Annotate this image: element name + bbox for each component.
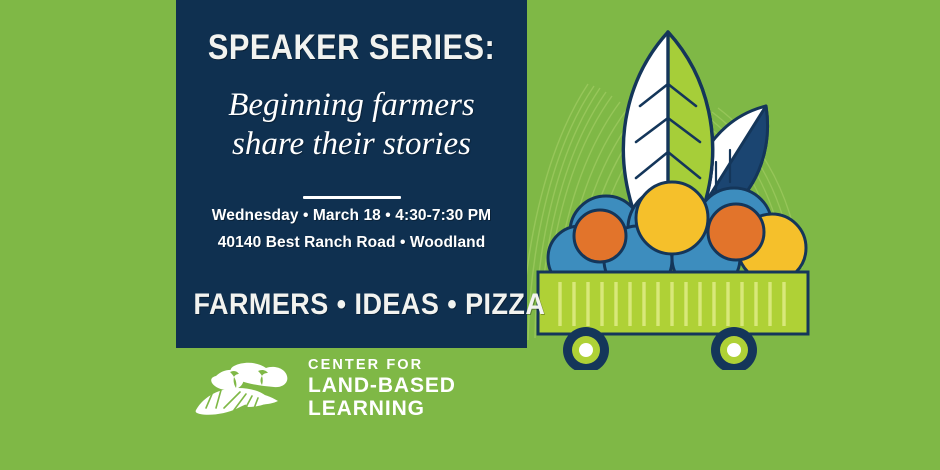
headline: Beginning farmers share their stories [176,86,527,163]
logo-line-2: LAND-BASED LEARNING [308,374,530,421]
event-info-panel: SPEAKER SERIES: Beginning farmers share … [176,0,527,348]
wagon-body [538,272,808,334]
tagline: FARMERS • IDEAS • PIZZA [194,288,510,322]
headline-line-1: Beginning farmers [228,87,475,123]
event-poster: SPEAKER SERIES: Beginning farmers share … [0,0,940,470]
produce-wagon-illustration [520,10,840,370]
leaf-bird-mark [190,360,298,418]
event-datetime: Wednesday • March 18 • 4:30-7:30 PM [176,203,527,230]
divider-rule [303,196,401,199]
event-address: 40140 Best Ranch Road • Woodland [176,230,527,257]
event-details: Wednesday • March 18 • 4:30-7:30 PM 4014… [176,203,527,256]
headline-line-2: share their stories [176,125,527,164]
logo-line-1: CENTER FOR [308,357,530,373]
divider-wrap [176,186,527,204]
eyebrow-speaker-series: SPEAKER SERIES: [197,30,506,65]
organization-logo: CENTER FOR LAND-BASED LEARNING [190,358,530,420]
logo-text: CENTER FOR LAND-BASED LEARNING [308,357,530,420]
